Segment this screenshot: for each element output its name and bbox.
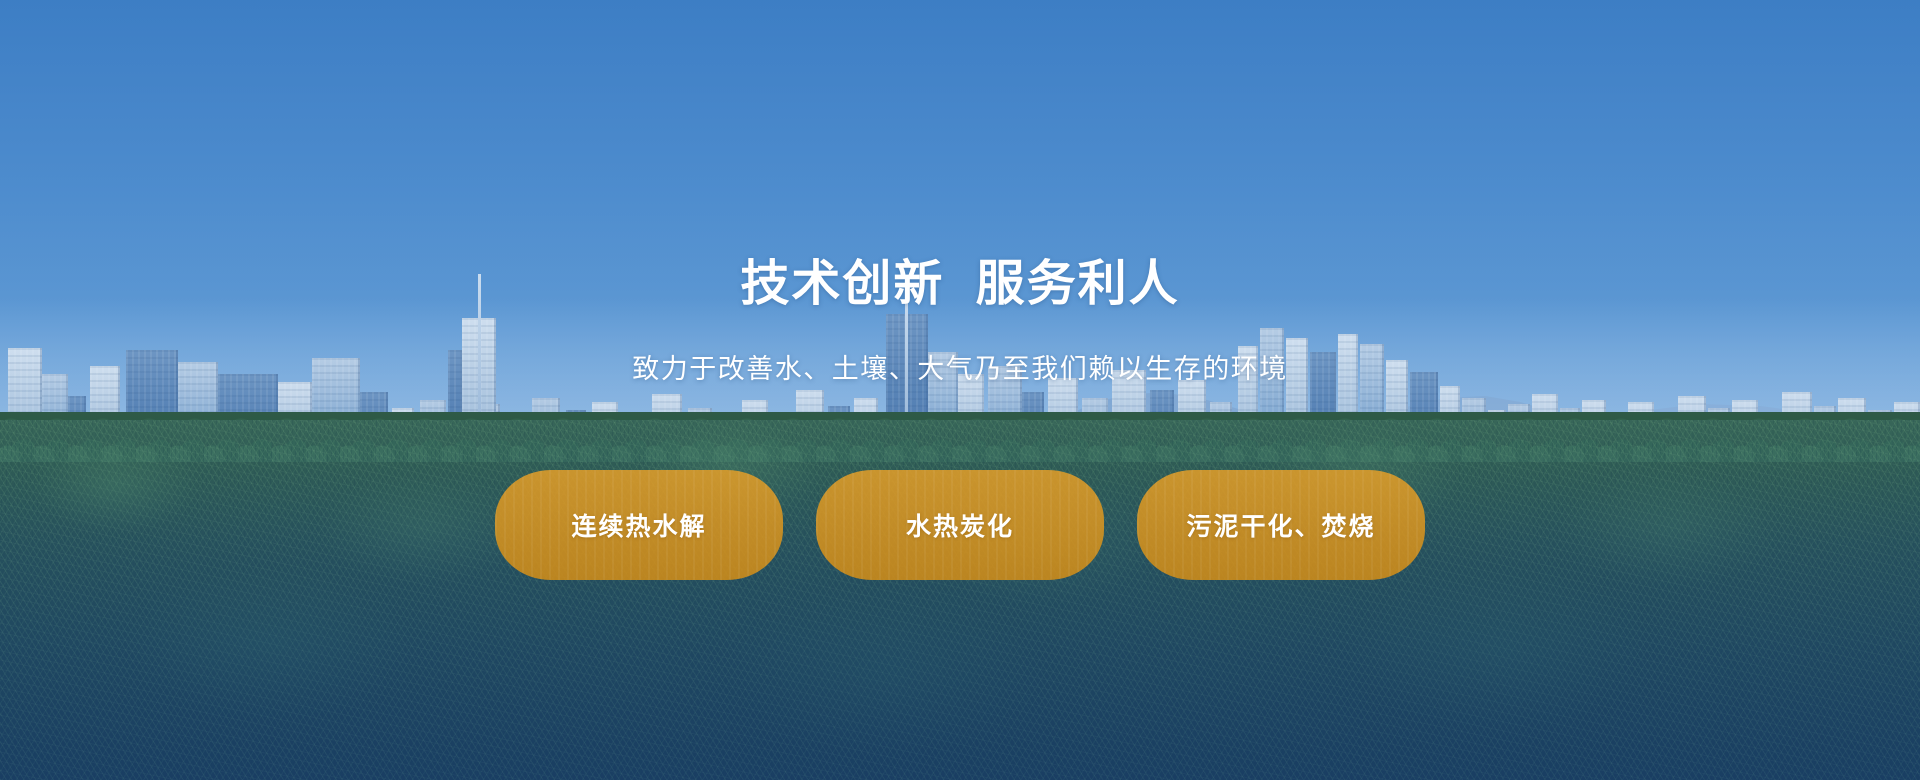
hero-button-sludge-drying-incineration[interactable]: 污泥干化、焚烧: [1137, 470, 1425, 580]
hero-subheadline: 致力于改善水、土壤、大气乃至我们赖以生存的环境: [0, 347, 1920, 386]
hero-button-label: 连续热水解: [571, 507, 706, 543]
hero-headline: 技术创新 服务利人: [0, 258, 1920, 312]
hero-content: 技术创新 服务利人 致力于改善水、土壤、大气乃至我们赖以生存的环境 连续热水解 …: [0, 0, 1920, 780]
hero-button-label: 水热炭化: [906, 507, 1014, 543]
hero-banner: 技术创新 服务利人 致力于改善水、土壤、大气乃至我们赖以生存的环境 连续热水解 …: [0, 0, 1920, 780]
hero-button-continuous-thermal-hydrolysis[interactable]: 连续热水解: [495, 470, 783, 580]
hero-button-hydrothermal-carbonization[interactable]: 水热炭化: [816, 470, 1104, 580]
hero-button-group: 连续热水解 水热炭化 污泥干化、焚烧: [0, 470, 1920, 580]
hero-button-label: 污泥干化、焚烧: [1186, 507, 1375, 543]
